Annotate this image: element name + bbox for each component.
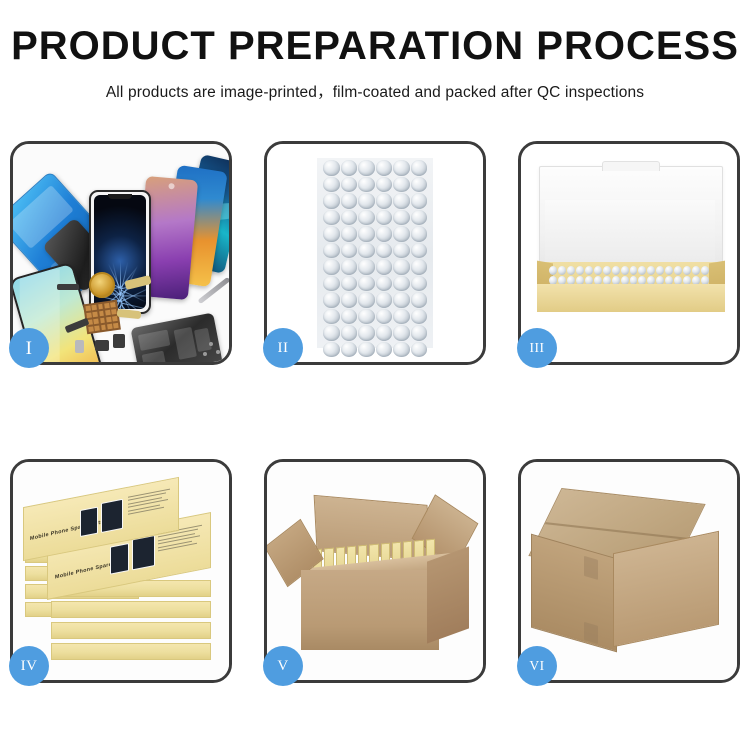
process-step-2[interactable]: II [264,141,486,365]
stacked-box [51,601,211,618]
small-part-bar [57,284,79,290]
step-2-image [267,144,483,362]
step-4-image: Mobile Phone Spare Parts Mobile Phone Sp… [13,462,229,680]
step-badge-2: II [263,328,303,368]
small-module-part [75,340,84,353]
step-badge-6: VI [517,646,557,686]
carton-side-face [427,546,469,643]
page-header: PRODUCT PREPARATION PROCESS All products… [0,0,750,102]
speaker-part [95,340,109,351]
screw-part [209,342,213,346]
step-6-image [521,462,737,680]
step-5-image [267,462,483,680]
process-step-3[interactable]: III [518,141,740,365]
step-badge-1: I [9,328,49,368]
carton-front-face [301,570,439,650]
stacked-box [51,622,211,639]
process-step-6[interactable]: VI [518,459,740,683]
page-subtitle: All products are image-printed，film-coat… [0,80,750,102]
process-step-4[interactable]: Mobile Phone Spare Parts Mobile Phone Sp… [10,459,232,683]
step-3-image [521,144,737,362]
step-badge-5: V [263,646,303,686]
process-step-1[interactable]: I [10,141,232,365]
step-badge-3: III [517,328,557,368]
bubble-wrap-bubbles [323,160,427,346]
screw-part [216,350,220,354]
process-step-5[interactable]: V [264,459,486,683]
camera-part [113,334,125,348]
gold-coil-part [89,272,115,298]
mailer-foam-liner [545,200,715,262]
flex-cable-part [117,309,142,319]
screw-part [203,352,207,356]
step-1-image [13,144,229,362]
page-title: PRODUCT PREPARATION PROCESS [0,26,750,66]
phone-chassis-part [130,313,223,362]
mailer-box-front [537,284,725,312]
process-grid: I II III [10,141,740,741]
stacked-box [51,643,211,660]
step-badge-4: IV [9,646,49,686]
copper-grid-part [83,300,121,334]
